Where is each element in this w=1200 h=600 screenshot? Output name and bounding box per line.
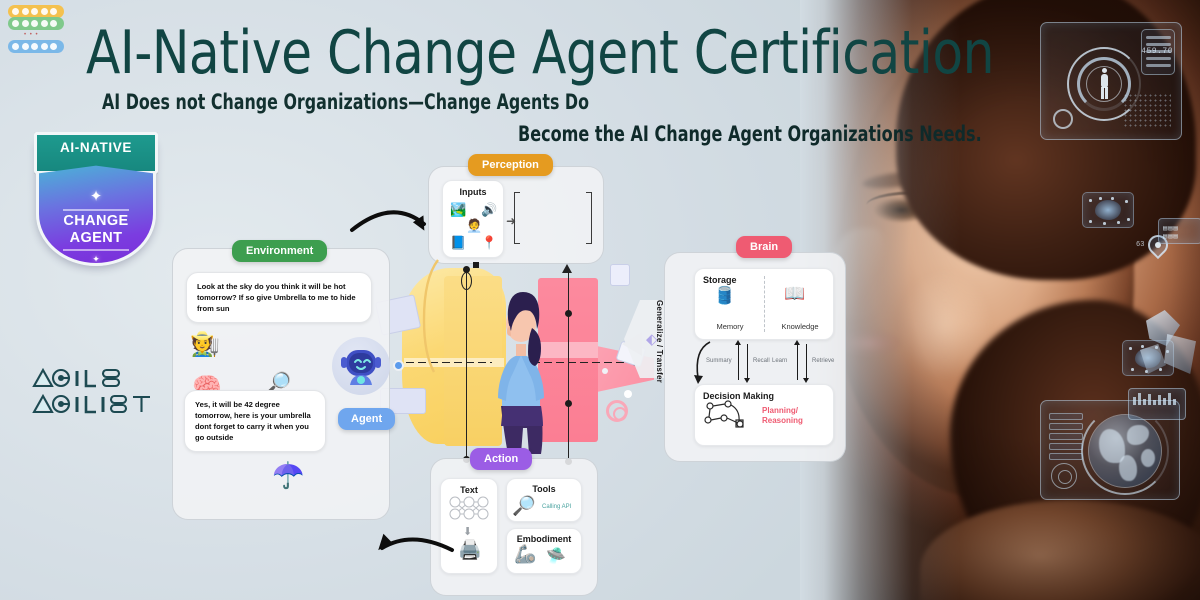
page-title: AI-Native Change Agent Certification bbox=[86, 20, 994, 86]
action-chip[interactable]: Action bbox=[470, 448, 532, 470]
embedding-row bbox=[8, 40, 64, 53]
calling-api-caption: Calling API bbox=[542, 504, 571, 510]
feedback-loop-arrow bbox=[690, 340, 726, 390]
embedding-card: • • • bbox=[0, 0, 74, 58]
woman-figure-illustration bbox=[488, 280, 554, 470]
umbrella-emoji: ☂️ bbox=[272, 462, 304, 488]
inputs-card: Inputs 🏞️ 🔊 🧑‍💼 📘 📍 bbox=[442, 180, 504, 258]
measure-line-vertical-right bbox=[568, 268, 569, 464]
subtitle-primary: AI Does not Change Organizations—Change … bbox=[102, 90, 589, 114]
knowledge-label: Knowledge bbox=[770, 322, 830, 331]
planning-line-2: Reasoning bbox=[762, 416, 803, 426]
planning-line-1: Planning/ bbox=[762, 406, 803, 416]
robot-arm-icon: 🦾 bbox=[514, 544, 536, 565]
floating-dot bbox=[624, 390, 632, 398]
badge-star-bottom-icon: ✦ bbox=[92, 255, 100, 264]
image-icon: 🏞️ bbox=[450, 203, 466, 216]
measure-node bbox=[565, 310, 572, 317]
agent-avatar bbox=[332, 337, 390, 395]
open-book-idea-icon: 📖 bbox=[784, 284, 805, 304]
document-icon: 📘 bbox=[450, 236, 466, 249]
certification-badge: ✦ CHANGE AGENT ✦ AI-NATIVE bbox=[26, 132, 166, 272]
planning-reasoning-text: Planning/ Reasoning bbox=[762, 406, 803, 426]
agent-connector-node bbox=[393, 360, 404, 371]
robot-face-icon bbox=[340, 345, 382, 387]
floating-dot bbox=[602, 368, 608, 374]
down-arrow-icon: ⬇ bbox=[463, 525, 472, 538]
arrowhead-up bbox=[735, 340, 741, 345]
person-icon: 🧑‍💼 bbox=[466, 219, 482, 232]
brain-chip[interactable]: Brain bbox=[736, 236, 792, 258]
badge-divider-bottom bbox=[63, 249, 129, 251]
printer-icon: 🖨️ bbox=[458, 538, 482, 562]
measure-loop bbox=[461, 272, 472, 290]
agent-chip[interactable]: Agent bbox=[338, 408, 395, 430]
arrowhead-down bbox=[803, 378, 809, 383]
badge-main-text: CHANGE AGENT bbox=[39, 213, 153, 247]
portrait-photo bbox=[800, 0, 1200, 600]
badge-line-2: AGENT bbox=[39, 230, 153, 247]
arrow-label-recall: Recall bbox=[753, 358, 770, 364]
arrow-action-to-environment bbox=[360, 512, 460, 562]
robot-drone-icon: 🛸 bbox=[546, 546, 566, 566]
generalize-transfer-label: Generalize / Transfer bbox=[655, 300, 664, 383]
storage-divider bbox=[764, 276, 765, 332]
subtitle-secondary: Become the AI Change Agent Organizations… bbox=[518, 122, 982, 146]
user-message-bubble: Look at the sky do you think it will be … bbox=[186, 272, 372, 323]
arrow-learn-up bbox=[797, 344, 798, 380]
memory-label: Memory bbox=[700, 322, 760, 331]
location-pin-icon: 📍 bbox=[481, 236, 497, 249]
embodiment-title: Embodiment bbox=[507, 534, 581, 544]
floating-card-3 bbox=[610, 264, 630, 286]
arrow-summary-up bbox=[738, 344, 739, 380]
floating-ring-pink bbox=[606, 400, 628, 422]
vector-bracket-right bbox=[586, 192, 592, 244]
measure-arrowhead bbox=[562, 264, 572, 273]
agile-agilist-logo-mark bbox=[30, 362, 160, 418]
poster-canvas: 459.70 63 ▤▤▤▤▤▤ bbox=[0, 0, 1200, 600]
photo-left-fade bbox=[800, 0, 1200, 600]
arrow-label-learn: Learn bbox=[772, 358, 787, 364]
badge-line-1: CHANGE bbox=[39, 213, 153, 230]
arrowhead-down bbox=[744, 378, 750, 383]
vector-bracket-left bbox=[514, 192, 520, 244]
flow-graph-icon bbox=[702, 400, 750, 434]
environment-chip[interactable]: Environment bbox=[232, 240, 327, 262]
perception-flow-line bbox=[414, 258, 458, 388]
arrow-label-retrieve: Retrieve bbox=[812, 358, 834, 364]
embedding-row bbox=[8, 17, 64, 30]
measure-line-vertical-left bbox=[466, 268, 467, 462]
database-icon: 🛢️ bbox=[714, 286, 735, 306]
badge-divider-top bbox=[63, 209, 129, 211]
perception-chip[interactable]: Perception bbox=[468, 154, 553, 176]
audio-icon: 🔊 bbox=[481, 203, 497, 216]
flow-node-square bbox=[473, 262, 479, 268]
badge-star-top-icon: ✦ bbox=[90, 189, 103, 204]
arrow-recall-down bbox=[747, 344, 748, 380]
brain-input-arrow bbox=[616, 330, 646, 360]
arrow-environment-to-perception bbox=[348, 196, 438, 246]
inputs-title: Inputs bbox=[443, 187, 503, 197]
person-with-cap-emoji: 🧑‍🌾 bbox=[190, 333, 220, 357]
browser-search-icon: 🔎 bbox=[512, 494, 536, 518]
tools-title: Tools bbox=[507, 484, 581, 494]
agile-agilist-logo bbox=[30, 362, 160, 418]
embedding-ellipsis: • • • bbox=[24, 32, 39, 38]
arrowhead-up bbox=[794, 340, 800, 345]
agent-message-bubble: Yes, it will be 42 degree tomorrow, here… bbox=[184, 390, 326, 452]
arrow-retrieve-down bbox=[806, 344, 807, 380]
badge-banner-label: AI-NATIVE bbox=[60, 140, 132, 155]
measure-node bbox=[565, 400, 572, 407]
